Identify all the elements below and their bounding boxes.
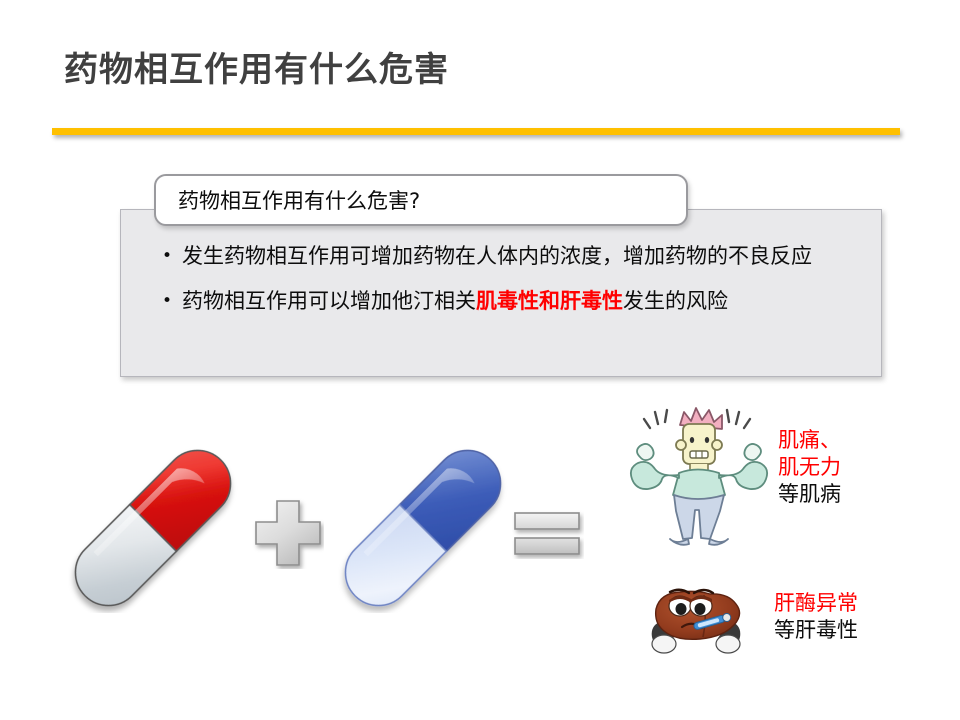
liver-outcome-label: 肝酶异常 等肝毒性 (774, 590, 858, 644)
bullet-marker-icon: • (162, 240, 182, 273)
question-callout-text: 药物相互作用有什么危害? (178, 185, 420, 215)
bullet-text: 药物相互作用可以增加他汀相关肌毒性和肝毒性发生的风险 (182, 285, 862, 318)
muscle-outcome-line-2: 肌无力 (778, 454, 841, 481)
bullet-text: 发生药物相互作用可增加药物在人体内的浓度，增加药物的不良反应 (182, 240, 862, 273)
plus-sign-icon (252, 497, 324, 569)
bullet-text-suffix: 发生的风险 (623, 289, 728, 313)
muscle-outcome-line-1: 肌痛、 (778, 427, 841, 454)
liver-outcome-line-2: 等肝毒性 (774, 617, 858, 644)
equals-sign-icon (512, 509, 584, 559)
muscle-outcome-line-3: 等肌病 (778, 481, 841, 508)
page-title: 药物相互作用有什么危害 (64, 42, 449, 91)
bullet-text-prefix: 药物相互作用可以增加他汀相关 (182, 289, 476, 313)
bullet-text-highlight: 肌毒性和肝毒性 (476, 289, 623, 313)
muscle-outcome-label: 肌痛、 肌无力 等肌病 (778, 427, 841, 508)
question-callout: 药物相互作用有什么危害? (154, 174, 688, 226)
blue-capsule-icon (338, 443, 508, 613)
list-item: • 发生药物相互作用可增加药物在人体内的浓度，增加药物的不良反应 (162, 240, 862, 273)
bullet-marker-icon: • (162, 285, 182, 318)
red-capsule-icon (68, 443, 238, 613)
title-underline-rule (52, 128, 900, 135)
slide-canvas: 药物相互作用有什么危害 药物相互作用有什么危害? • 发生药物相互作用可增加药物… (0, 0, 960, 720)
flexing-muscle-man-icon (622, 395, 772, 547)
sick-liver-icon (640, 575, 752, 659)
list-item: • 药物相互作用可以增加他汀相关肌毒性和肝毒性发生的风险 (162, 285, 862, 318)
bullet-list: • 发生药物相互作用可增加药物在人体内的浓度，增加药物的不良反应 • 药物相互作… (162, 240, 862, 330)
liver-outcome-line-1: 肝酶异常 (774, 590, 858, 617)
